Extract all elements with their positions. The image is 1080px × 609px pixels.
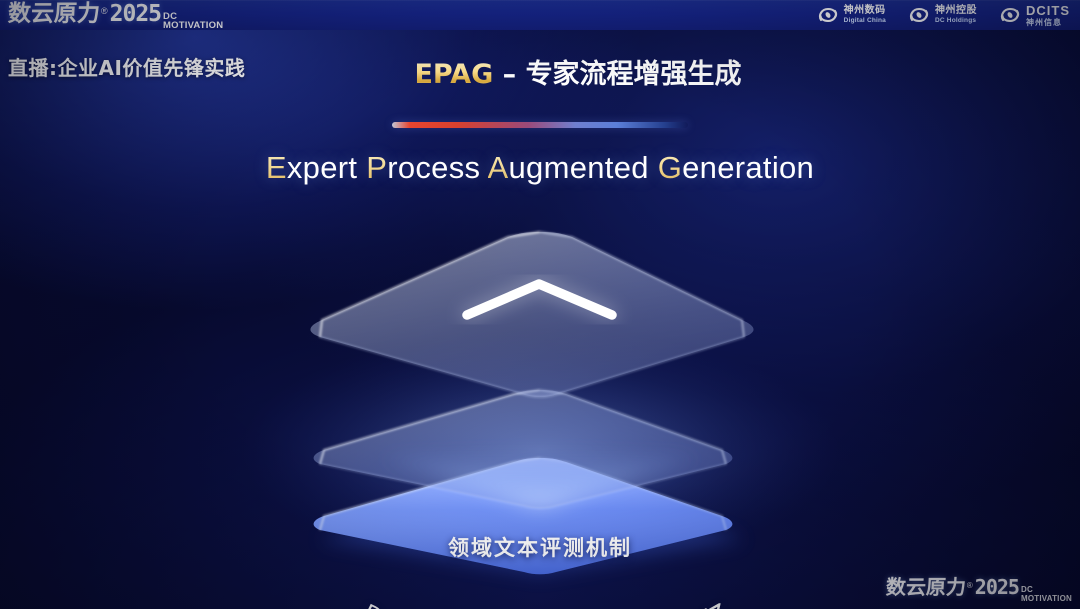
brand-logo-year: 2025 [110,1,161,27]
partner-name-cn: 神州控股 [935,6,977,16]
brand-watermark: 数云原力 ® 2025 DC MOTIVATION [886,574,1072,605]
subtitle-rest-expert: xpert [287,150,366,185]
title-dash: – [493,59,525,90]
subtitle-cap-e: E [266,150,287,185]
partner-name-cn: 神州数码 [844,6,886,16]
subtitle-rest-process: rocess [387,150,487,185]
layer-stack-diagram: 领域文本评测机制 Dynamic MOE 长文本记忆 三类语义建模模块 [0,200,1080,600]
brand-registered-mark: ® [101,6,108,16]
title-acronym: EPAG [414,59,493,90]
brand-logo-dc-line2: MOTIVATION [163,21,223,30]
partner-label: 神州数码 Digital China [844,6,886,25]
partner-name-cn: DCITS [1026,4,1070,17]
partner-name-en: 神州信息 [1026,19,1070,27]
watermark-logo-cn: 数云原力 [885,574,966,601]
watermark-registered-mark: ® [967,581,973,590]
partner-name-en: DC Holdings [935,18,977,25]
title-chinese: 专家流程增强生成 [526,59,742,90]
subtitle-cap-a: A [488,150,509,185]
header-bar: 数云原力 ® 2025 DC MOTIVATION [0,0,1080,30]
partner-name-en: Digital China [844,18,886,25]
partner-logo-dcits: DCITS 神州信息 [999,4,1070,27]
page-subtitle: Expert Process Augmented Generation [0,150,1080,186]
subtitle-rest-augmented: ugmented [509,150,658,185]
watermark-logo-year: 2025 [975,575,1019,599]
subtitle-rest-generation: eneration [682,150,814,185]
subtitle-cap-p: P [366,150,387,185]
swirl-icon [908,5,930,25]
brand-logo-dc: DC MOTIVATION [163,12,223,30]
partner-logo-group: 神州数码 Digital China 神州控股 DC H [817,2,1070,28]
page-title: EPAG – 专家流程增强生成 [0,52,1080,91]
brand-logo: 数云原力 ® 2025 DC MOTIVATION [8,1,223,32]
partner-label: 神州控股 DC Holdings [935,6,977,25]
brand-logo-cn: 数云原力 [7,1,100,28]
layer-label-middle-left: Dynamic MOE [359,599,525,609]
subtitle-cap-g: G [658,150,682,185]
watermark-logo-dc-line2: MOTIVATION [1021,594,1072,603]
watermark-logo-dc: DC MOTIVATION [1021,585,1072,603]
watermark-logo-dc-line1: DC [1021,585,1072,594]
partner-label: DCITS 神州信息 [1026,4,1070,27]
slide-canvas: 数云原力 ® 2025 DC MOTIVATION [0,0,1080,609]
gradient-divider [392,122,688,128]
swirl-icon [817,5,839,25]
swirl-icon [999,5,1021,25]
partner-logo-digital-china: 神州数码 Digital China [817,5,886,25]
partner-logo-dc-holdings: 神州控股 DC Holdings [908,5,977,25]
